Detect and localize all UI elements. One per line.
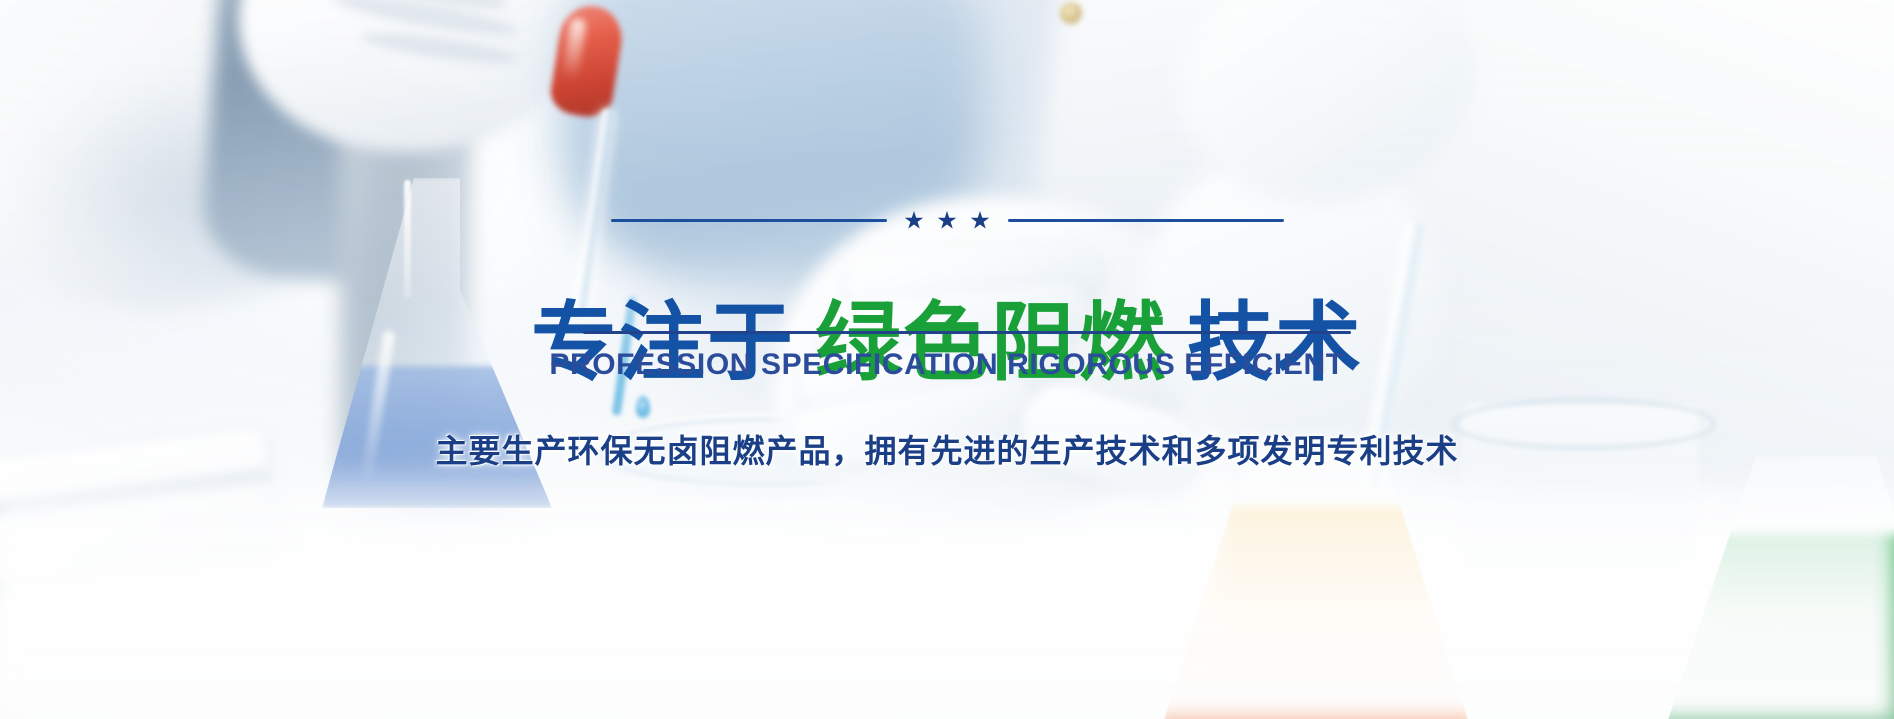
hero-banner: 专注于绿色阻燃技术 PROFESSION SPECIFICATION RIGOR… [0,0,1894,719]
banner-content: 专注于绿色阻燃技术 PROFESSION SPECIFICATION RIGOR… [0,0,1894,719]
decorative-rule-right [1008,219,1284,222]
banner-subtitle-english: PROFESSION SPECIFICATION RIGOROUS EFFICI… [0,348,1894,382]
decorative-rule-with-stars [0,211,1894,230]
star-icon [938,211,957,230]
title-underline [583,331,1351,334]
star-icon [971,211,990,230]
star-group [905,211,990,230]
banner-description-chinese: 主要生产环保无卤阻燃产品，拥有先进的生产技术和多项发明专利技术 [0,426,1894,472]
star-icon [905,211,924,230]
decorative-rule-left [611,219,887,222]
